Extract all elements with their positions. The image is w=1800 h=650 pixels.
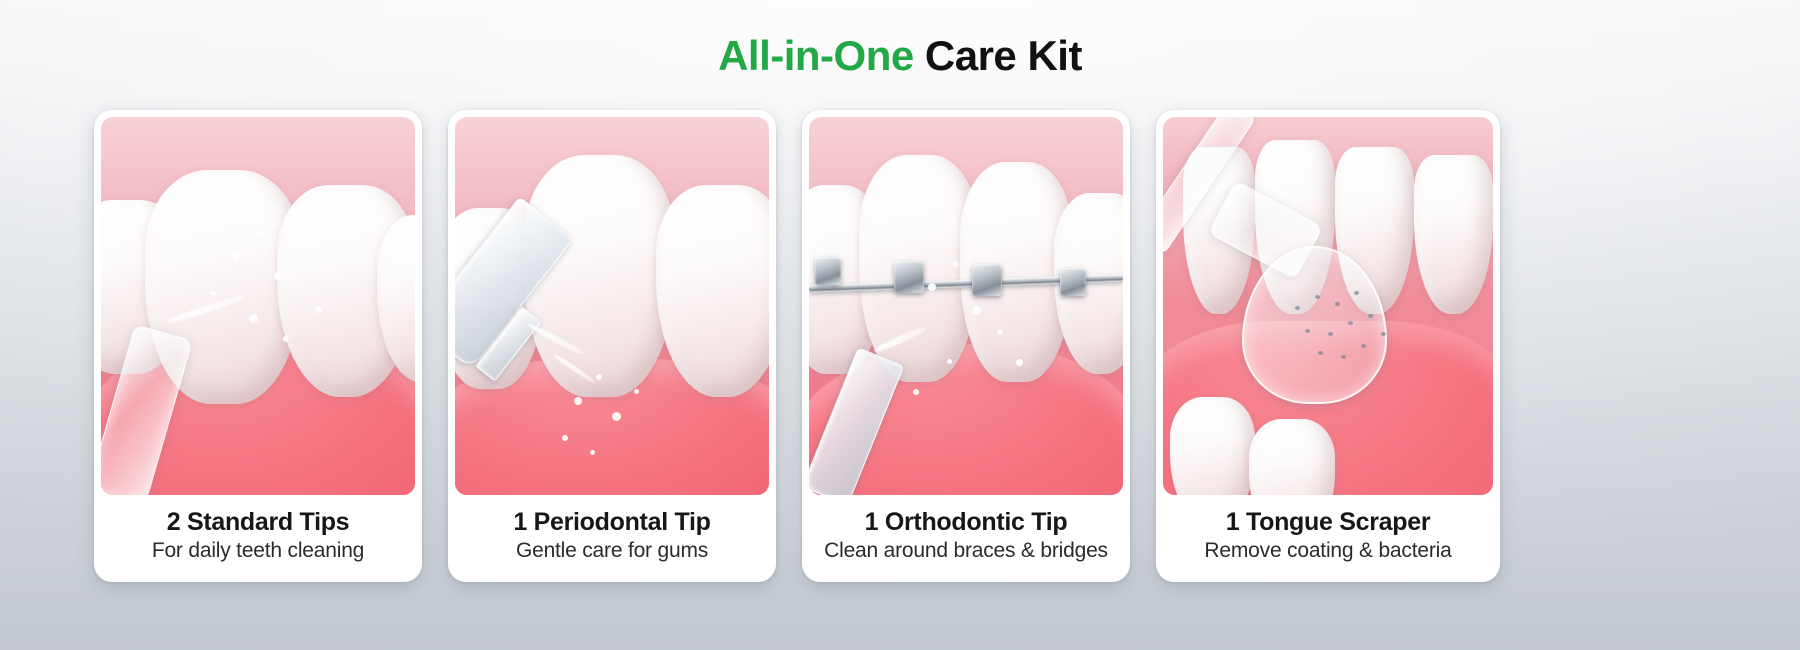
card-label: 1 Periodontal Tip Gentle care for gums <box>455 495 769 582</box>
kit-card-periodontal-tip[interactable]: 1 Periodontal Tip Gentle care for gums <box>448 110 776 582</box>
card-label: 1 Tongue Scraper Remove coating & bacter… <box>1163 495 1493 582</box>
kit-card-standard-tips[interactable]: 2 Standard Tips For daily teeth cleaning <box>94 110 422 582</box>
kit-card-orthodontic-tip[interactable]: 1 Orthodontic Tip Clean around braces & … <box>802 110 1130 582</box>
tongue-scraper-illustration <box>1163 117 1493 495</box>
page-title: All-in-One Care Kit <box>0 32 1800 80</box>
page-title-rest: Care Kit <box>914 32 1082 79</box>
orthodontic-tip-braces-illustration <box>809 117 1123 495</box>
standard-tip-teeth-cleaning-illustration <box>101 117 415 495</box>
card-subtitle: For daily teeth cleaning <box>152 539 364 563</box>
card-subtitle: Gentle care for gums <box>516 539 708 563</box>
card-label: 2 Standard Tips For daily teeth cleaning <box>101 495 415 582</box>
kit-card-list: 2 Standard Tips For daily teeth cleaning… <box>94 110 1800 582</box>
page-title-accent: All-in-One <box>718 32 914 79</box>
card-title: 1 Orthodontic Tip <box>865 508 1068 536</box>
kit-card-tongue-scraper[interactable]: 1 Tongue Scraper Remove coating & bacter… <box>1156 110 1500 582</box>
periodontal-tip-gum-care-illustration <box>455 117 769 495</box>
card-subtitle: Remove coating & bacteria <box>1204 539 1451 563</box>
card-title: 1 Periodontal Tip <box>513 508 710 536</box>
card-subtitle: Clean around braces & bridges <box>824 539 1108 563</box>
card-title: 1 Tongue Scraper <box>1226 508 1431 536</box>
card-label: 1 Orthodontic Tip Clean around braces & … <box>809 495 1123 582</box>
card-title: 2 Standard Tips <box>167 508 350 536</box>
